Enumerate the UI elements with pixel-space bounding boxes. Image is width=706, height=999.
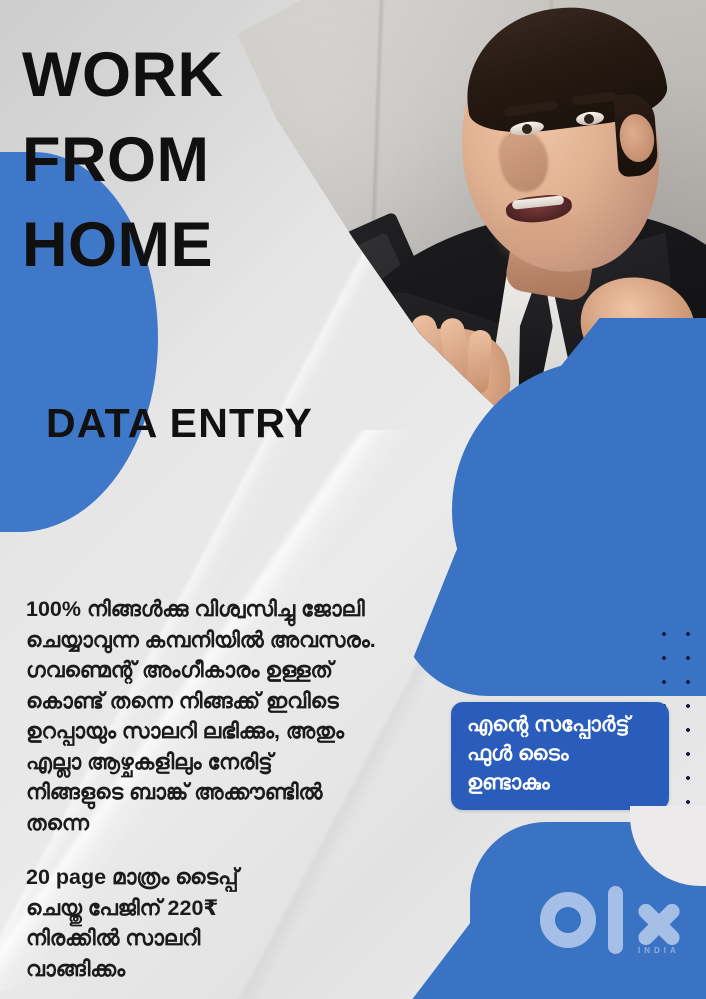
paragraph-1-line: തന്നെ	[26, 808, 430, 839]
headline-line-3: HOME	[22, 216, 352, 275]
paragraph-2-line: നിരക്കിൽ സാലറി	[26, 923, 346, 954]
olx-watermark-logo: INDIA	[540, 884, 690, 958]
poster-canvas: WORK FROM HOME DATA ENTRY 100% നിങ്ങൾക്ക…	[0, 0, 706, 999]
olx-letter-x-icon	[632, 900, 686, 948]
support-badge: എന്റെ സപ്പോർട്ട് ഫുൾ ടൈം ഉണ്ടാകും	[451, 702, 669, 810]
page-title: WORK FROM HOME	[22, 46, 352, 302]
headline-line-1: WORK	[22, 46, 352, 105]
badge-line: ഫുൾ ടൈം	[467, 740, 655, 769]
paragraph-2-line: ചെയ്തു പേജിന് 220₹	[26, 893, 346, 924]
body-paragraph-1: 100% നിങ്ങൾക്കു വിശ്വസിച്ചു ജോലി ചെയ്യാവ…	[26, 594, 430, 838]
headline-line-2: FROM	[22, 131, 352, 190]
paragraph-1-line: 100% നിങ്ങൾക്കു വിശ്വസിച്ചു ജോലി	[26, 594, 430, 625]
olx-watermark-subtext: INDIA	[638, 946, 680, 955]
badge-line: ഉണ്ടാകും	[467, 769, 655, 798]
pupil-left	[522, 124, 532, 134]
olx-letter-o-icon	[540, 892, 596, 948]
subheadline: DATA ENTRY	[46, 400, 313, 447]
pupil-right	[584, 114, 594, 124]
paragraph-1-line: ഉറപ്പായും സാലറി ലഭിക്കും, അതും	[26, 716, 430, 747]
paragraph-1-line: ഗവണ്മെന്റ് അംഗീകാരം ഉള്ളത്	[26, 655, 430, 686]
paragraph-2-line: 20 page മാത്രം ടൈപ്പ്	[26, 862, 346, 893]
paragraph-2-line: വാങ്ങിക്കം	[26, 954, 346, 985]
paragraph-1-line: നിങ്ങളുടെ ബാങ്ക് അക്കൗണ്ടിൽ	[26, 777, 430, 808]
olx-letter-l-icon	[608, 886, 623, 954]
body-paragraph-2: 20 page മാത്രം ടൈപ്പ് ചെയ്തു പേജിന് 220₹…	[26, 862, 346, 984]
paragraph-1-line: കൊണ്ട് തന്നെ നിങ്ങക്ക് ഇവിടെ	[26, 686, 430, 717]
badge-line: എന്റെ സപ്പോർട്ട്	[467, 711, 655, 740]
paragraph-1-line: എല്ലാ ആഴ്ചകളിലും നേരിട്ട്	[26, 747, 430, 778]
paragraph-1-line: ചെയ്യാവുന്ന കമ്പനിയിൽ അവസരം.	[26, 625, 430, 656]
